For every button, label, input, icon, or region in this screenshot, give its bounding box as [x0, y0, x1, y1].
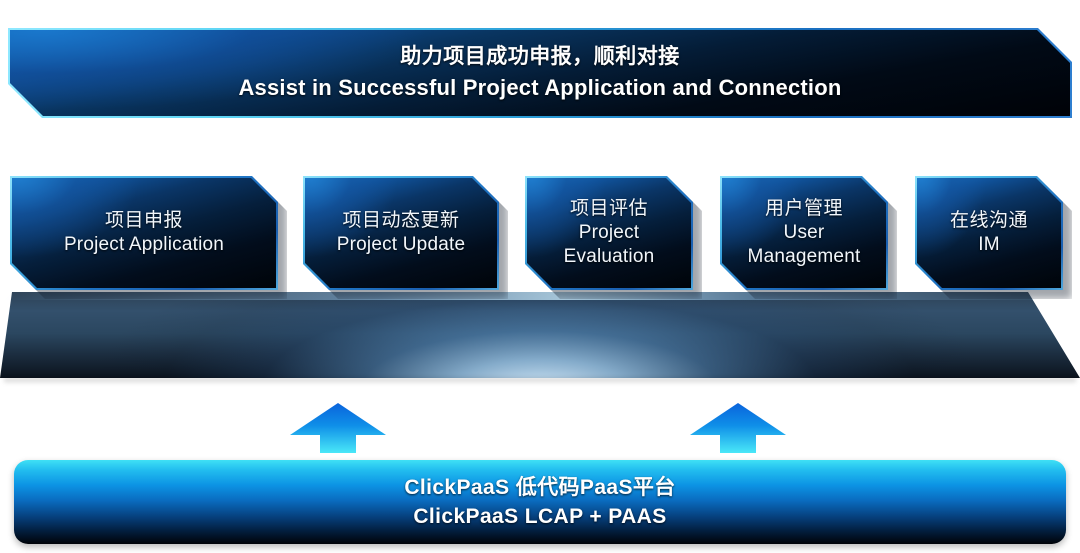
top-banner-face: 助力项目成功申报，顺利对接 Assist in Successful Proje…	[10, 30, 1070, 116]
feature-box-label-cn: 项目申报	[64, 209, 224, 233]
feature-box-label: 在线沟通 IM	[940, 209, 1038, 257]
feature-box-face: 用户管理 User Management	[722, 178, 886, 288]
feature-box-label: 用户管理 User Management	[722, 197, 886, 269]
feature-box-label-en: IM	[950, 233, 1028, 257]
feature-box-label-en: Project Evaluation	[537, 221, 681, 269]
top-banner-title-cn: 助力项目成功申报，顺利对接	[238, 44, 841, 71]
platform-slab	[0, 292, 1080, 378]
bottom-banner-title-cn: ClickPaaS 低代码PaaS平台	[404, 474, 675, 501]
feature-box-label-en: Project Update	[337, 233, 465, 257]
feature-box-label: 项目评估 Project Evaluation	[527, 197, 691, 269]
feature-box-face: 项目申报 Project Application	[12, 178, 276, 288]
feature-box-label-en: Project Application	[64, 233, 224, 257]
platform-slab-shadow	[4, 378, 1076, 384]
feature-box-label-cn: 用户管理	[732, 197, 876, 221]
feature-box-face: 项目动态更新 Project Update	[305, 178, 497, 288]
feature-box-project-application[interactable]: 项目申报 Project Application	[10, 176, 278, 290]
feature-box-label: 项目申报 Project Application	[54, 209, 234, 257]
feature-box-im[interactable]: 在线沟通 IM	[915, 176, 1063, 290]
feature-box-face: 在线沟通 IM	[917, 178, 1061, 288]
bottom-banner: ClickPaaS 低代码PaaS平台 ClickPaaS LCAP + PAA…	[14, 460, 1066, 544]
arrow-up-icon-right	[690, 401, 786, 453]
diagram-canvas: 助力项目成功申报，顺利对接 Assist in Successful Proje…	[0, 0, 1080, 553]
feature-box-face: 项目评估 Project Evaluation	[527, 178, 691, 288]
platform-slab-face	[0, 292, 1080, 378]
feature-box-project-update[interactable]: 项目动态更新 Project Update	[303, 176, 499, 290]
feature-box-label: 项目动态更新 Project Update	[327, 209, 475, 257]
bottom-banner-text-group: ClickPaaS 低代码PaaS平台 ClickPaaS LCAP + PAA…	[404, 474, 675, 531]
feature-box-label-cn: 项目评估	[537, 197, 681, 221]
feature-box-project-evaluation[interactable]: 项目评估 Project Evaluation	[525, 176, 693, 290]
top-banner-text-group: 助力项目成功申报，顺利对接 Assist in Successful Proje…	[238, 44, 841, 102]
feature-box-label-en: User Management	[732, 221, 876, 269]
feature-box-label-cn: 项目动态更新	[337, 209, 465, 233]
feature-box-label-cn: 在线沟通	[950, 209, 1028, 233]
top-banner: 助力项目成功申报，顺利对接 Assist in Successful Proje…	[8, 28, 1072, 118]
feature-box-user-management[interactable]: 用户管理 User Management	[720, 176, 888, 290]
top-banner-title-en: Assist in Successful Project Application…	[238, 74, 841, 102]
arrow-up-icon-left	[290, 401, 386, 453]
bottom-banner-title-en: ClickPaaS LCAP + PAAS	[404, 503, 675, 530]
